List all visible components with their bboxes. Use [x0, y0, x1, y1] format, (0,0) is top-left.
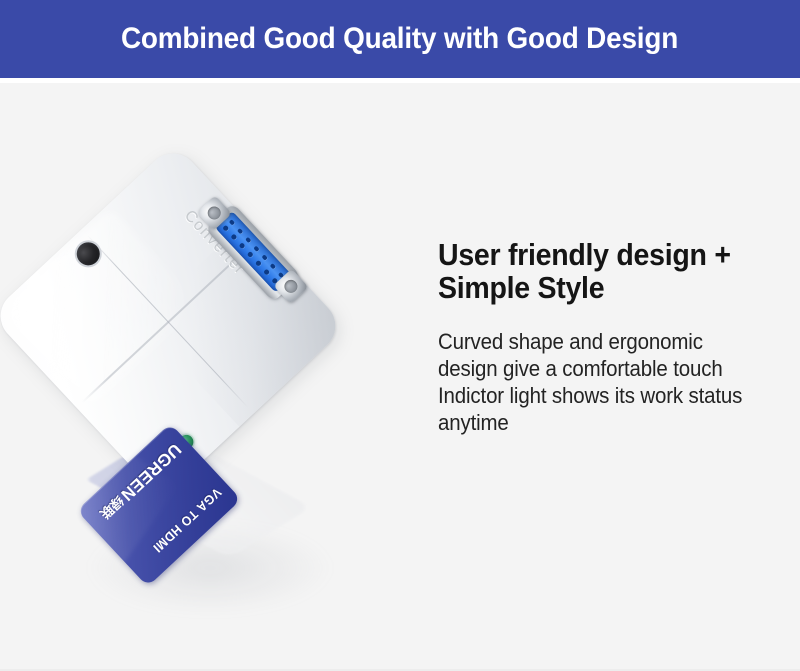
- headline-line-2: Simple Style: [438, 270, 604, 305]
- label-brand-text: UGREEN绿联: [96, 439, 185, 524]
- feature-body-text: Curved shape and ergonomic design give a…: [438, 328, 764, 436]
- headline-line-1: User friendly design +: [438, 237, 731, 272]
- product-feature-banner: Combined Good Quality with Good Design C…: [0, 0, 800, 671]
- feature-copy-block: User friendly design + Simple Style Curv…: [438, 238, 788, 436]
- content-stage: Converter: [0, 83, 800, 671]
- product-image: Converter: [20, 123, 420, 643]
- feature-headline: User friendly design + Simple Style: [438, 238, 760, 304]
- banner-title: Combined Good Quality with Good Design: [121, 22, 678, 56]
- header-banner: Combined Good Quality with Good Design: [0, 0, 800, 78]
